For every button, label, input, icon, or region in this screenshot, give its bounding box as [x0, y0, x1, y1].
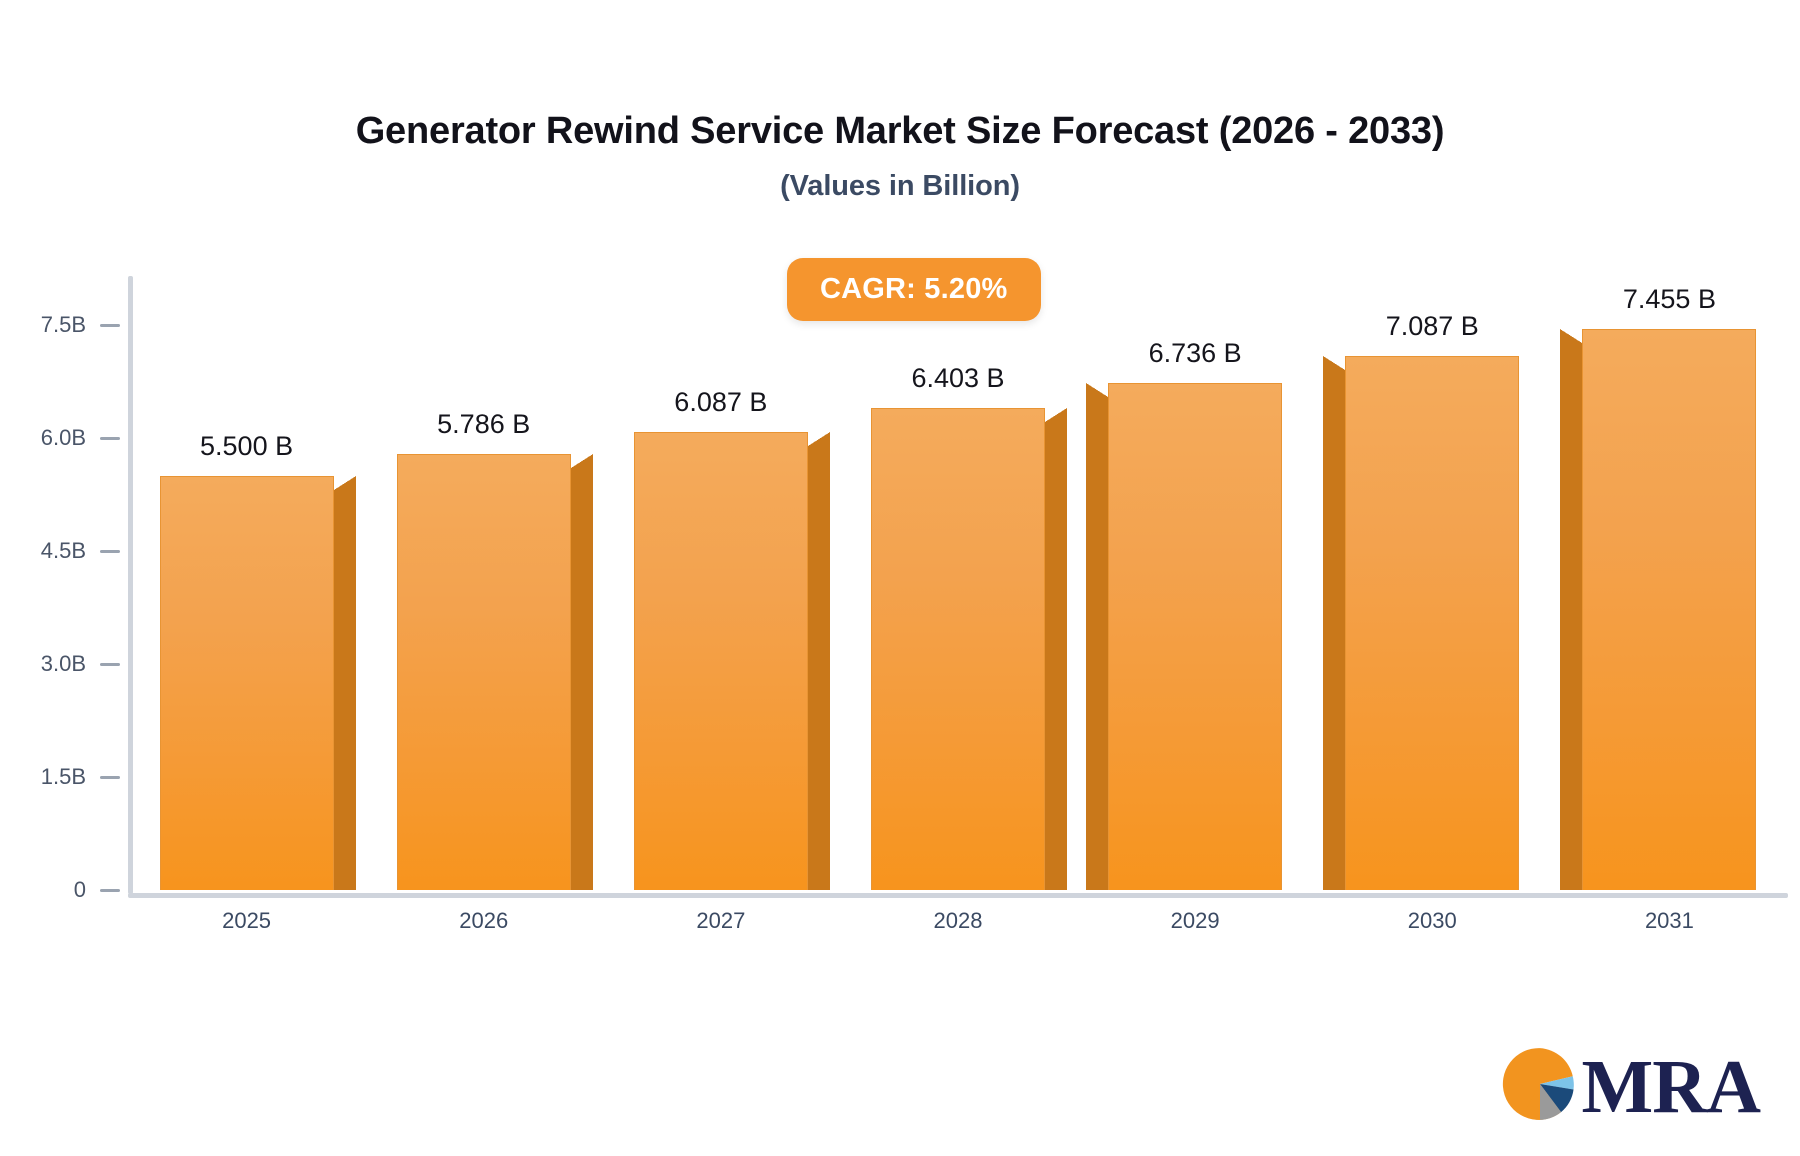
y-axis-tick: 3.0B — [0, 654, 120, 674]
bar-group[interactable]: 5.500 B — [160, 280, 334, 890]
bar-3d-top — [1086, 383, 1108, 397]
bar-series: 5.500 B5.786 B6.087 B6.403 B6.736 B7.087… — [128, 280, 1788, 890]
x-axis-tick-label: 2025 — [128, 908, 365, 934]
bar-3d-top — [334, 476, 356, 490]
y-axis-tick: 4.5B — [0, 541, 120, 561]
y-axis-tick-label: 4.5B — [41, 538, 86, 564]
bar-3d-top — [808, 432, 830, 446]
bar-value-label: 5.786 B — [437, 409, 530, 440]
bar-3d-side — [571, 468, 593, 890]
chart-subtitle: (Values in Billion) — [0, 170, 1800, 203]
y-axis-tick-mark — [100, 889, 120, 892]
page-title: Generator Rewind Service Market Size For… — [0, 110, 1800, 154]
y-axis-tick-label: 0 — [74, 877, 86, 903]
y-axis-tick: 6.0B — [0, 428, 120, 448]
bar-3d-side — [1045, 422, 1067, 890]
mra-logo: MRA — [1501, 1045, 1760, 1128]
y-axis-tick: 0 — [0, 880, 120, 900]
y-axis-tick-label: 6.0B — [41, 425, 86, 451]
y-axis-tick-mark — [100, 776, 120, 779]
title-block: Generator Rewind Service Market Size For… — [0, 110, 1800, 203]
bar-value-label: 6.403 B — [911, 363, 1004, 394]
x-axis-tick-label: 2028 — [839, 908, 1076, 934]
plot-area: 7.5B6.0B4.5B3.0B1.5B0 5.500 B5.786 B6.08… — [128, 280, 1788, 890]
bar-3d-side — [1086, 397, 1108, 890]
x-axis-labels: 2025202620272028202920302031 — [128, 908, 1788, 948]
y-axis-tick-mark — [100, 437, 120, 440]
bar-3d-top — [1045, 408, 1067, 422]
bar-3d-side — [808, 446, 830, 890]
chart-container: Generator Rewind Service Market Size For… — [0, 0, 1800, 1156]
bar-group[interactable]: 7.087 B — [1345, 280, 1519, 890]
bar-group[interactable]: 6.736 B — [1108, 280, 1282, 890]
bar[interactable] — [871, 408, 1045, 890]
bar-3d-top — [1323, 356, 1345, 370]
bar[interactable] — [1108, 383, 1282, 890]
y-axis-tick-mark — [100, 550, 120, 553]
bar-value-label: 6.087 B — [674, 387, 767, 418]
bar-3d-side — [334, 490, 356, 890]
x-axis-line — [128, 893, 1788, 898]
bar[interactable] — [397, 454, 571, 890]
y-axis-tick-mark — [100, 663, 120, 666]
y-axis-tick-label: 7.5B — [41, 312, 86, 338]
bar-group[interactable]: 6.403 B — [871, 280, 1045, 890]
bar-3d-top — [571, 454, 593, 468]
bar-3d-top — [1560, 329, 1582, 343]
y-axis-tick-label: 1.5B — [41, 764, 86, 790]
y-axis-tick: 1.5B — [0, 767, 120, 787]
bar-3d-side — [1560, 343, 1582, 890]
bar[interactable] — [634, 432, 808, 890]
cagr-badge: CAGR: 5.20% — [787, 258, 1041, 321]
bar-value-label: 5.500 B — [200, 431, 293, 462]
x-axis-tick-label: 2027 — [602, 908, 839, 934]
bar[interactable] — [160, 476, 334, 890]
x-axis-tick-label: 2031 — [1551, 908, 1788, 934]
bar-value-label: 6.736 B — [1149, 338, 1242, 369]
x-axis-tick-label: 2026 — [365, 908, 602, 934]
bar-group[interactable]: 6.087 B — [634, 280, 808, 890]
y-axis-tick-label: 3.0B — [41, 651, 86, 677]
bar-value-label: 7.455 B — [1623, 284, 1716, 315]
x-axis-tick-label: 2030 — [1314, 908, 1551, 934]
logo-text: MRA — [1581, 1049, 1760, 1125]
pie-chart-icon — [1501, 1045, 1579, 1128]
bar-group[interactable]: 7.455 B — [1582, 280, 1756, 890]
bar-group[interactable]: 5.786 B — [397, 280, 571, 890]
bar[interactable] — [1582, 329, 1756, 890]
bar-value-label: 7.087 B — [1386, 311, 1479, 342]
x-axis-tick-label: 2029 — [1077, 908, 1314, 934]
bar-3d-side — [1323, 370, 1345, 890]
bar[interactable] — [1345, 356, 1519, 890]
y-axis-tick-mark — [100, 324, 120, 327]
y-axis-tick: 7.5B — [0, 315, 120, 335]
